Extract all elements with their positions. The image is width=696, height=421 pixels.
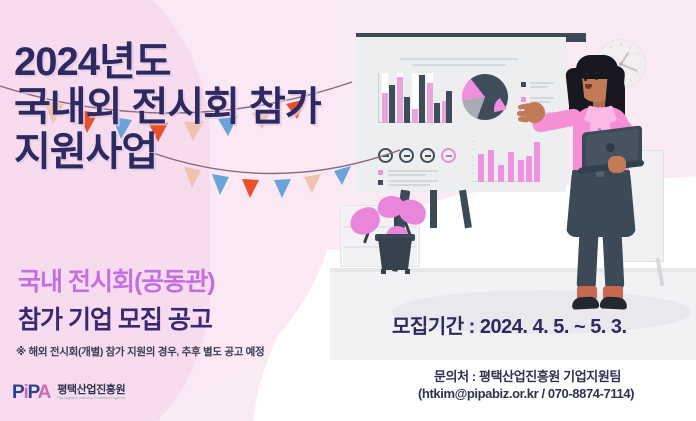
person-leg	[576, 232, 598, 291]
pipa-logo-text: 평택산업진흥원 Pyeongtaek Industry Promotion Ag…	[57, 385, 125, 400]
person-skirt	[566, 175, 636, 237]
pie-legend-line	[530, 97, 554, 99]
person-eye	[584, 78, 587, 81]
person-leg	[602, 232, 624, 291]
person-right-hand	[608, 156, 626, 173]
board-leg	[430, 190, 437, 228]
headline-line-1: 2024년도	[14, 40, 344, 85]
subtitle-domestic-exhibition: 국내 전시회(공동관)	[18, 262, 215, 298]
recruitment-period: 모집기간 : 2024. 4. 5. ~ 5. 3.	[392, 310, 627, 339]
headline-line-2: 국내외 전시회 참가	[14, 85, 344, 130]
pie-chart-exploded-slice	[494, 96, 520, 122]
plant-pot-foot	[381, 269, 386, 274]
plant-pot	[378, 238, 412, 270]
pie-legend-swatch	[521, 97, 526, 102]
person-shoe	[572, 296, 600, 309]
subtitle-recruitment-notice: 참가 기업 모집 공고	[18, 300, 212, 336]
gauge-dash	[446, 155, 452, 157]
gauge-dash	[425, 155, 431, 157]
pipa-name-english: Pyeongtaek Industry Promotion Agency	[57, 397, 125, 401]
logo-letter-p1: P	[12, 382, 23, 403]
person-shoe	[600, 296, 628, 309]
pie-legend-line	[530, 86, 548, 88]
logo-letter-a: A	[38, 382, 51, 403]
gauge-dash	[404, 155, 410, 157]
contact-email-phone: (htkim@pipabiz.or.kr / 070-8874-7114)	[418, 386, 634, 401]
pie-legend-line	[530, 82, 554, 84]
headline-line-3: 지원사업	[14, 130, 344, 175]
person-finger	[517, 111, 529, 116]
grouped-bar-chart	[378, 73, 452, 123]
pipa-logo: PiPA 평택산업진흥원 Pyeongtaek Industry Promoti…	[12, 382, 126, 404]
promotional-poster: 2024년도 국내외 전시회 참가 지원사업 국내 전시회(공동관) 참가 기업…	[0, 0, 696, 421]
laptop-trackpad-dot	[606, 143, 615, 152]
poster-headline: 2024년도 국내외 전시회 참가 지원사업	[14, 40, 344, 174]
logo-letter-p2: P	[28, 382, 38, 403]
board-text-line	[400, 58, 518, 60]
plant-pot-foot	[405, 269, 410, 274]
board-text-line	[412, 64, 506, 66]
pipa-logo-mark: PiPA	[12, 382, 50, 404]
person-eye	[595, 77, 598, 80]
pie-legend-swatch	[521, 82, 526, 87]
contact-team: 문의처 : 평택산업진흥원 기업지원팀	[434, 366, 621, 385]
pink-bar-chart	[474, 140, 538, 182]
footnote-overseas: ※ 해외 전시회(개별) 참가 지원의 경우, 추후 별도 공고 예정	[16, 344, 264, 359]
